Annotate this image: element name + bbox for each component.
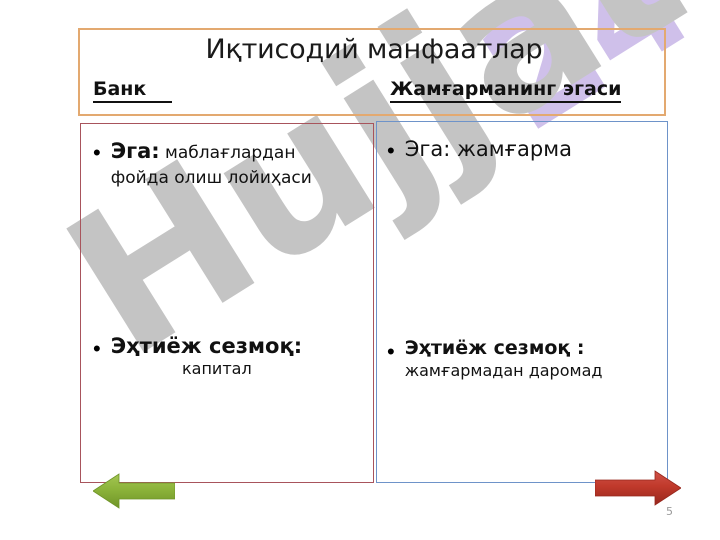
list-item: • Эҳтиёж сезмоқ : жамғармадан даромад — [387, 337, 659, 380]
list-item: • Эга: жамғарма — [387, 136, 657, 162]
list-item-lead: Эга: — [111, 139, 160, 163]
list-item: • Эга: маблағлардан фойда олиш лойиҳаси — [93, 138, 355, 190]
panel-fund-owner: • Эга: жамғарма • Эҳтиёж сезмоқ : жамғар… — [376, 121, 668, 483]
list-item-lead: Эҳтиёж сезмоқ: — [111, 334, 361, 358]
page-number: 5 — [666, 505, 673, 518]
slide-content: Иқтисодий манфаатлар Банк Жамғарманинг э… — [0, 0, 720, 540]
column-header-fund-owner: Жамғарманинг эгаси — [390, 78, 621, 103]
list-item-sub: капитал — [111, 359, 361, 378]
bullet-icon: • — [387, 341, 395, 363]
panel-bank: • Эга: маблағлардан фойда олиш лойиҳаси … — [80, 123, 374, 483]
list-item-text: Эга: жамғарма — [405, 137, 572, 161]
bullet-icon: • — [387, 140, 395, 162]
column-header-bank: Банк — [93, 78, 172, 103]
list-item-lead: Эҳтиёж сезмоқ : — [405, 337, 659, 359]
left-arrow-icon — [93, 472, 175, 510]
list-item-body: Эҳтиёж сезмоқ: капитал — [111, 334, 361, 378]
list-item-text: Эга: маблағлардан фойда олиш лойиҳаси — [111, 141, 312, 188]
list-item-body: Эга: маблағлардан фойда олиш лойиҳаси — [111, 138, 355, 190]
right-arrow-icon — [595, 469, 681, 507]
title-box: Иқтисодий манфаатлар Банк Жамғарманинг э… — [78, 28, 666, 116]
list-item-body: Эга: жамғарма — [405, 136, 657, 162]
list-item: • Эҳтиёж сезмоқ: капитал — [93, 334, 361, 378]
page-title: Иқтисодий манфаатлар — [80, 34, 668, 65]
list-item-sub: жамғармадан даромад — [405, 361, 659, 380]
list-item-body: Эҳтиёж сезмоқ : жамғармадан даромад — [405, 337, 659, 380]
bullet-icon: • — [93, 338, 101, 360]
bullet-icon: • — [93, 142, 101, 164]
